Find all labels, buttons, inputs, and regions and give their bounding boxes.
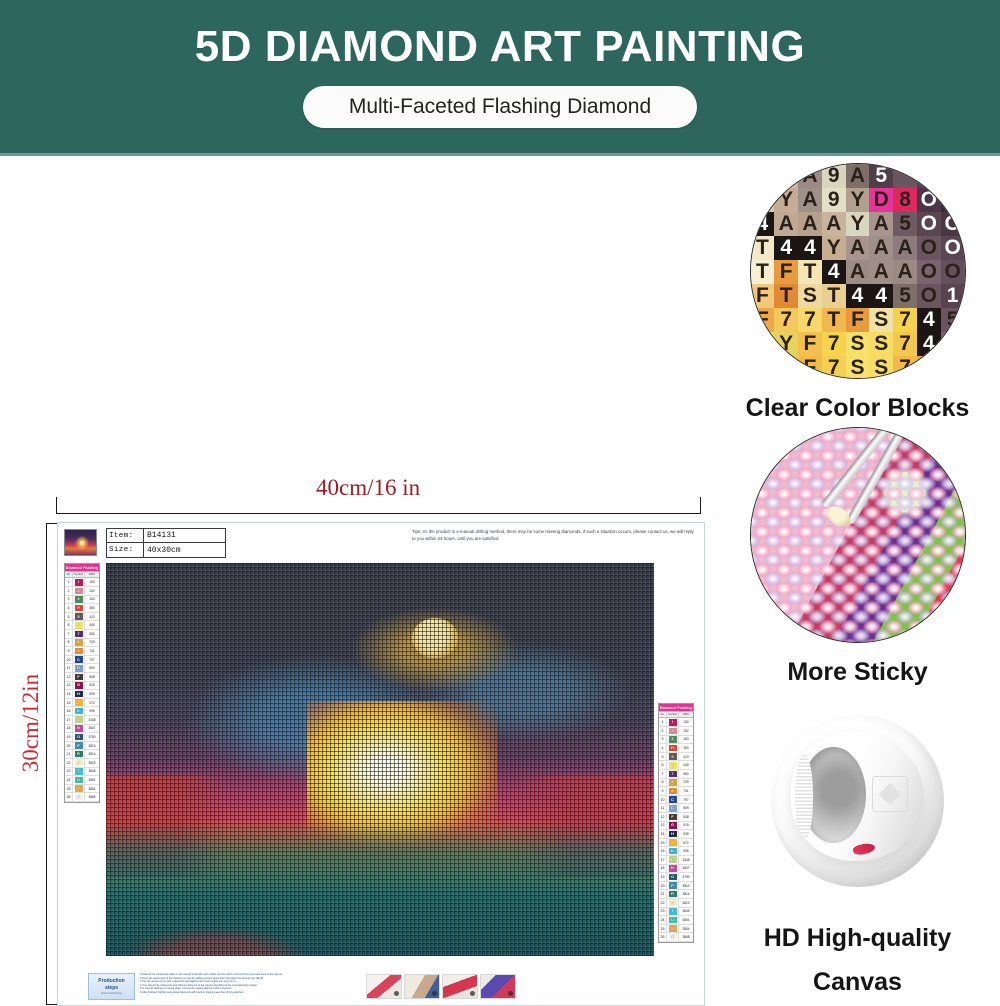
legend-symbol-swatch: 6 [669, 762, 677, 769]
rolled-canvas-icon [750, 693, 966, 909]
legend-cell-symbol: 3 [73, 596, 85, 604]
production-steps-thumbnails [366, 974, 516, 999]
legend-cell-no: 19 [659, 873, 667, 881]
legend-cell-dmc: 3823 [679, 899, 693, 907]
legend-cell-symbol: T [73, 768, 85, 776]
legend-cell-dmc: 3348 [85, 716, 99, 724]
legend-cell-symbol: O [73, 733, 85, 741]
color-block-cell: 4 [917, 308, 941, 332]
color-block-cell: A [869, 236, 893, 260]
legend-row: 26X3865 [659, 933, 693, 942]
legend-row: 77550 [65, 630, 99, 639]
canvas-roll-edge [795, 753, 814, 841]
color-block-cell: A [869, 212, 893, 236]
legend-cell-dmc: 809 [679, 804, 693, 812]
legend-cell-dmc: 996 [85, 707, 99, 715]
legend-cell-dmc: 3348 [679, 856, 693, 864]
production-steps-title2: steps [105, 985, 118, 992]
legend-cell-dmc: 996 [679, 847, 693, 855]
page-title: 5D DIAMOND ART PAINTING [195, 22, 805, 72]
color-block-cell: F [751, 284, 775, 308]
color-block-cell: 1 [941, 284, 965, 308]
legend-row: 25V3854 [65, 785, 99, 794]
legend-row: 26X3865 [65, 793, 99, 802]
legend-row: 24U3851 [65, 776, 99, 785]
color-block-cell: A [846, 236, 870, 260]
legend-row: 11D809 [659, 804, 693, 813]
legend-row: 1I150 [659, 718, 693, 727]
legend-cell-symbol: L [667, 856, 679, 864]
legend-cell-no: 18 [65, 725, 73, 733]
legend-symbol-swatch: L [669, 856, 677, 863]
legend-cell-no: 25 [65, 785, 73, 793]
legend-symbol-swatch: J [75, 699, 83, 706]
legend-cell-dmc: 3865 [85, 793, 99, 801]
legend-cell-no: 20 [65, 742, 73, 750]
legend-row: 13G915 [65, 682, 99, 691]
legend-cell-no: 2 [65, 587, 73, 595]
beads-tweezers-icon [750, 427, 966, 643]
width-dimension-cap-left [56, 497, 57, 514]
legend-cell-symbol: R [73, 750, 85, 758]
feature-more-sticky: More Sticky [715, 427, 1000, 687]
legend-cell-dmc: 150 [679, 718, 693, 726]
product-thumbnail [64, 529, 97, 556]
legend-row: 20P3810 [65, 742, 99, 751]
legend-row: 16K996 [659, 847, 693, 856]
color-block-cell: S [869, 308, 893, 332]
item-info-table: Item: B14131 Size: 40x30cm [106, 528, 226, 558]
legend-cell-dmc: 350 [679, 744, 693, 752]
legend-table-right: Diamond Painting No. Symbol DMC 1I150221… [658, 703, 694, 943]
legend-cell-dmc: 939 [679, 830, 693, 838]
legend-cell-no: 17 [659, 856, 667, 864]
legend-cell-no: 18 [659, 865, 667, 873]
legend-symbol-swatch: G [75, 682, 83, 689]
color-block-cell: J [774, 356, 798, 379]
legend-cell-symbol: U [667, 916, 679, 924]
legend-cell-no: 22 [659, 899, 667, 907]
legend-cell-no: 13 [65, 682, 73, 690]
legend-cell-no: 5 [65, 613, 73, 621]
color-block-cell: F [798, 332, 822, 356]
legend-cell-symbol: P [73, 742, 85, 750]
legend-symbol-swatch: O [669, 874, 677, 881]
legend-cell-dmc: 741 [679, 787, 693, 795]
legend-cell-no: 10 [659, 796, 667, 804]
legend-symbol-swatch: I [669, 719, 677, 726]
legend-cell-no: 3 [65, 596, 73, 604]
legend-cell-no: 12 [65, 673, 73, 681]
legend-row: 19O3750 [659, 873, 693, 882]
color-block-cell: Y [774, 164, 798, 188]
legend-cell-no: 2 [659, 727, 667, 735]
legend-cell-no: 11 [659, 804, 667, 812]
legend-cell-symbol: C [667, 796, 679, 804]
legend-cell-symbol: 7 [73, 630, 85, 638]
legend-cell-symbol: J [73, 699, 85, 707]
legend-cell-symbol: X [667, 933, 679, 941]
legend-symbol-swatch: 8 [75, 639, 83, 646]
color-block-cell: T [822, 308, 846, 332]
legend-cell-symbol: 6 [667, 761, 679, 769]
legend-symbol-swatch: 8 [669, 779, 677, 786]
legend-cell-no: 24 [65, 776, 73, 784]
legend-cell-dmc: 550 [85, 630, 99, 638]
color-block-cell: S [846, 332, 870, 356]
legend-symbol-swatch: 2 [669, 728, 677, 735]
legend-row: 4H350 [659, 744, 693, 753]
legend-symbol-swatch: X [75, 794, 83, 801]
legend-rows-left: 1I15022152331634H35055413664457755088729… [65, 578, 99, 801]
color-block-macro-icon: YA9A5YA9YD8O4AAAYA5OOT44YAAAOOTFT4AAAOOF… [750, 163, 966, 379]
legend-cell-symbol: V [73, 785, 85, 793]
legend-cell-dmc: 939 [85, 690, 99, 698]
step-badge-3 [470, 991, 475, 996]
color-block-cell: 4 [917, 332, 941, 356]
color-block-cell: 8 [893, 188, 917, 212]
legend-cell-symbol: L [73, 716, 85, 724]
legend-cell-no: 15 [65, 699, 73, 707]
legend-row: 21R3814 [65, 750, 99, 759]
legend-header-dmc: DMC [85, 572, 99, 577]
legend-symbol-swatch: U [669, 917, 677, 924]
legend-row: 17L3348 [65, 716, 99, 725]
legend-cell-symbol: K [667, 847, 679, 855]
legend-cell-no: 12 [659, 813, 667, 821]
step-badge-1 [394, 991, 399, 996]
legend-cell-dmc: 550 [679, 770, 693, 778]
legend-symbol-swatch: C [669, 796, 677, 803]
color-block-cell: Y [846, 212, 870, 236]
legend-cell-symbol: J [667, 839, 679, 847]
color-block-cell [751, 188, 775, 212]
legend-symbol-swatch: 2 [75, 588, 83, 595]
legend-cell-dmc: 797 [679, 796, 693, 804]
feature-callouts-pane: YA9A5YA9YD8O4AAAYA5OOT44YAAAOOTFT4AAAOOF… [715, 155, 1000, 983]
legend-symbol-swatch: O [75, 734, 83, 741]
legend-cell-symbol: 2 [73, 587, 85, 595]
legend-cell-no: 11 [65, 664, 73, 672]
legend-cell-symbol: G [73, 682, 85, 690]
legend-cell-no: 15 [659, 839, 667, 847]
legend-symbol-swatch: I [75, 579, 83, 586]
color-block-cell: 4 [846, 284, 870, 308]
color-block-cell: Y [774, 188, 798, 212]
color-block-cell: F [917, 356, 941, 379]
color-block-cell: F [751, 308, 775, 332]
legend-symbol-swatch: H [75, 691, 83, 698]
legend-row: 18N3607 [65, 725, 99, 734]
diamond-shape-icon [879, 783, 902, 806]
legend-row: 12F838 [65, 673, 99, 682]
color-block-cell: 7 [798, 308, 822, 332]
legend-symbol-swatch: R [75, 751, 83, 758]
color-block-cell: O [941, 236, 965, 260]
legend-row: 88729 [65, 639, 99, 648]
color-block-cell [893, 164, 917, 188]
legend-cell-symbol: H [73, 604, 85, 612]
legend-cell-symbol: C [73, 656, 85, 664]
legend-row: 10C797 [659, 796, 693, 805]
legend-cell-dmc: 3854 [85, 785, 99, 793]
color-block-cell: A [774, 212, 798, 236]
legend-symbol-swatch: S [669, 899, 677, 906]
legend-symbol-swatch: V [669, 925, 677, 932]
color-block-cell: 4 [798, 236, 822, 260]
legend-row: 25V3854 [659, 925, 693, 934]
legend-symbol-swatch: P [669, 882, 677, 889]
legend-symbol-swatch: F [75, 674, 83, 681]
legend-cell-dmc: 163 [85, 596, 99, 604]
width-dimension-line [56, 513, 701, 514]
legend-cell-no: 8 [65, 639, 73, 647]
color-block-cell [751, 164, 775, 188]
legend-table-left: Diamond Painting No. Symbol DMC 1I150221… [64, 563, 100, 803]
legend-cell-dmc: 3607 [85, 725, 99, 733]
legend-symbol-swatch: D [75, 665, 83, 672]
legend-cell-dmc: 3854 [679, 925, 693, 933]
color-block-cell: T [751, 260, 775, 284]
legend-symbol-swatch: 5 [669, 753, 677, 760]
width-dimension-cap-right [700, 497, 701, 514]
item-value: B14131 [144, 529, 225, 542]
legend-title: Diamond Painting [65, 564, 99, 571]
legend-cell-dmc: 729 [85, 639, 99, 647]
legend-row: 15J972 [659, 839, 693, 848]
canvas-watermark-icon [872, 776, 908, 812]
legend-cell-dmc: 152 [679, 727, 693, 735]
legend-cell-dmc: 3607 [679, 865, 693, 873]
legend-cell-no: 14 [659, 830, 667, 838]
color-block-cell: 4 [751, 212, 775, 236]
color-block-cell: S [869, 356, 893, 379]
legend-cell-symbol: 2 [667, 727, 679, 735]
canvas-print-peek [853, 842, 877, 856]
legend-symbol-swatch: A [669, 788, 677, 795]
color-block-cell: D [869, 188, 893, 212]
color-block-cell: A [893, 260, 917, 284]
legend-row: 15J972 [65, 699, 99, 708]
legend-cell-dmc: 3810 [679, 882, 693, 890]
size-value: 40x30cm [144, 543, 225, 557]
legend-row: 23T3845 [65, 768, 99, 777]
legend-row: 10C797 [65, 656, 99, 665]
legend-cell-symbol: A [667, 787, 679, 795]
legend-cell-dmc: 797 [85, 656, 99, 664]
step-thumbnail-2 [404, 974, 440, 999]
legend-cell-no: 26 [65, 793, 73, 801]
legend-cell-symbol: 3 [667, 736, 679, 744]
legend-row: 1I150 [65, 578, 99, 587]
legend-cell-dmc: 972 [679, 839, 693, 847]
color-block-cell: 7 [893, 332, 917, 356]
legend-cell-symbol: 8 [667, 779, 679, 787]
legend-cell-symbol: 7 [667, 770, 679, 778]
legend-cell-no: 20 [659, 882, 667, 890]
legend-row: 24U3851 [659, 916, 693, 925]
height-dimension-line [46, 523, 47, 1005]
legend-symbol-swatch: 7 [75, 631, 83, 638]
legend-symbol-swatch: K [669, 848, 677, 855]
legend-cell-dmc: 838 [679, 813, 693, 821]
legend-symbol-swatch: F [669, 814, 677, 821]
color-block-cell [941, 164, 965, 188]
legend-cell-symbol: S [667, 899, 679, 907]
diamond-painting-artwork [106, 563, 654, 956]
legend-row: 13G915 [659, 822, 693, 831]
legend-cell-no: 6 [65, 621, 73, 629]
artwork-grid-mesh [106, 563, 654, 956]
legend-symbol-swatch: X [669, 934, 677, 941]
legend-cell-no: 1 [659, 718, 667, 726]
legend-cell-no: 23 [65, 768, 73, 776]
legend-cell-no: 9 [65, 647, 73, 655]
legend-cell-dmc: 163 [679, 736, 693, 744]
color-block-cell: 7 [774, 308, 798, 332]
legend-cell-symbol: G [667, 822, 679, 830]
legend-row: 22S3823 [659, 899, 693, 908]
legend-symbol-swatch: S [75, 759, 83, 766]
color-block-cell: O [917, 236, 941, 260]
color-block-cell: O [941, 212, 965, 236]
color-block-cell: O [917, 260, 941, 284]
production-steps-sub: Diamond Painting [101, 992, 121, 995]
legend-symbol-swatch: P [75, 742, 83, 749]
color-block-cell: A [798, 188, 822, 212]
legend-symbol-swatch: 6 [75, 622, 83, 629]
legend-cell-symbol: U [73, 776, 85, 784]
legend-cell-no: 8 [659, 779, 667, 787]
feature-caption-2: More Sticky [715, 657, 1000, 687]
legend-cell-no: 25 [659, 925, 667, 933]
legend-cell-dmc: 3823 [85, 759, 99, 767]
legend-symbol-swatch: C [75, 656, 83, 663]
color-block-cell: F [798, 356, 822, 379]
legend-header-symbol: Symbol [73, 572, 85, 577]
legend-header-dmc-right: DMC [679, 712, 693, 717]
legend-symbol-swatch: R [669, 891, 677, 898]
legend-row: 11D809 [65, 664, 99, 673]
legend-cell-dmc: 3810 [85, 742, 99, 750]
legend-cell-no: 6 [659, 761, 667, 769]
legend-row: 88729 [659, 779, 693, 788]
color-block-grid: YA9A5YA9YD8O4AAAYA5OOT44YAAAOOTFT4AAAOOF… [751, 164, 965, 378]
legend-row: 19O3750 [65, 733, 99, 742]
item-key: Item: [107, 529, 144, 542]
legend-row: 12F838 [659, 813, 693, 822]
legend-row: 14H939 [65, 690, 99, 699]
color-block-cell: A [869, 260, 893, 284]
subtitle-pill: Multi-Faceted Flashing Diamond [303, 86, 697, 128]
legend-cell-symbol: N [73, 725, 85, 733]
color-block-cell: 7 [893, 308, 917, 332]
legend-cell-symbol: H [73, 690, 85, 698]
production-step-line: 6.After finished, slightly press down di… [140, 991, 358, 995]
legend-row: 55413 [659, 753, 693, 762]
legend-title-right: Diamond Painting [659, 704, 693, 711]
legend-cell-no: 9 [659, 787, 667, 795]
color-block-cell: 5 [941, 332, 965, 356]
size-key: Size: [107, 543, 144, 557]
legend-cell-dmc: 445 [679, 761, 693, 769]
color-block-cell: 9 [822, 188, 846, 212]
legend-cell-symbol: 6 [73, 621, 85, 629]
legend-cell-dmc: 3750 [85, 733, 99, 741]
legend-symbol-swatch: U [75, 777, 83, 784]
legend-row: 18N3607 [659, 865, 693, 874]
color-block-cell: 4 [869, 284, 893, 308]
legend-cell-dmc: 3750 [679, 873, 693, 881]
legend-row: 22152 [65, 587, 99, 596]
legend-cell-symbol: 5 [667, 753, 679, 761]
legend-cell-no: 7 [65, 630, 73, 638]
legend-header-no-right: No. [659, 712, 667, 717]
legend-cell-no: 24 [659, 916, 667, 924]
legend-cell-dmc: 972 [85, 699, 99, 707]
canvas-roll-body [791, 732, 925, 862]
legend-symbol-swatch: H [669, 831, 677, 838]
step-thumbnail-4 [480, 974, 516, 999]
legend-cell-no: 13 [659, 822, 667, 830]
legend-cell-dmc: 3851 [679, 916, 693, 924]
legend-cell-no: 19 [65, 733, 73, 741]
legend-cell-no: 16 [659, 847, 667, 855]
color-block-cell: Y [846, 188, 870, 212]
color-block-cell: S [869, 332, 893, 356]
rolled-canvas-scene [750, 693, 966, 909]
item-row: Item: B14131 [107, 529, 225, 543]
legend-cell-dmc: 3865 [679, 933, 693, 941]
legend-cell-no: 10 [65, 656, 73, 664]
legend-header-row-right: No. Symbol DMC [659, 711, 693, 718]
legend-cell-no: 22 [65, 759, 73, 767]
legend-cell-dmc: 445 [85, 621, 99, 629]
legend-cell-dmc: 3851 [85, 776, 99, 784]
legend-cell-dmc: 350 [85, 604, 99, 612]
legend-cell-dmc: 413 [85, 613, 99, 621]
legend-symbol-swatch: T [669, 908, 677, 915]
legend-row: 20P3810 [659, 882, 693, 891]
color-block-cell: T [751, 236, 775, 260]
legend-cell-dmc: 809 [85, 664, 99, 672]
legend-cell-no: 21 [65, 750, 73, 758]
production-steps-badge: Production steps Diamond Painting [88, 973, 135, 1000]
legend-row: 4H350 [65, 604, 99, 613]
color-block-cell: 4 [774, 236, 798, 260]
legend-cell-symbol: F [73, 673, 85, 681]
color-block-cell: 7 [822, 356, 846, 379]
legend-symbol-swatch: N [75, 725, 83, 732]
legend-cell-symbol: X [73, 793, 85, 801]
color-block-cell: 5 [893, 284, 917, 308]
legend-row: 23T3845 [659, 908, 693, 917]
legend-cell-symbol: I [73, 578, 85, 586]
feature-caption-3-line2: Canvas [715, 967, 1000, 997]
color-block-cell: T [822, 284, 846, 308]
legend-header-no: No. [65, 572, 73, 577]
legend-cell-symbol: P [667, 882, 679, 890]
color-block-cell: 4 [822, 260, 846, 284]
page-subtitle: Multi-Faceted Flashing Diamond [349, 95, 651, 119]
legend-cell-symbol: H [667, 744, 679, 752]
color-block-cell: A [846, 260, 870, 284]
color-block-cell: F [774, 260, 798, 284]
color-block-cell: O [917, 284, 941, 308]
color-block-cell: O [941, 260, 965, 284]
color-block-cell: Y [774, 332, 798, 356]
legend-cell-no: 1 [65, 578, 73, 586]
